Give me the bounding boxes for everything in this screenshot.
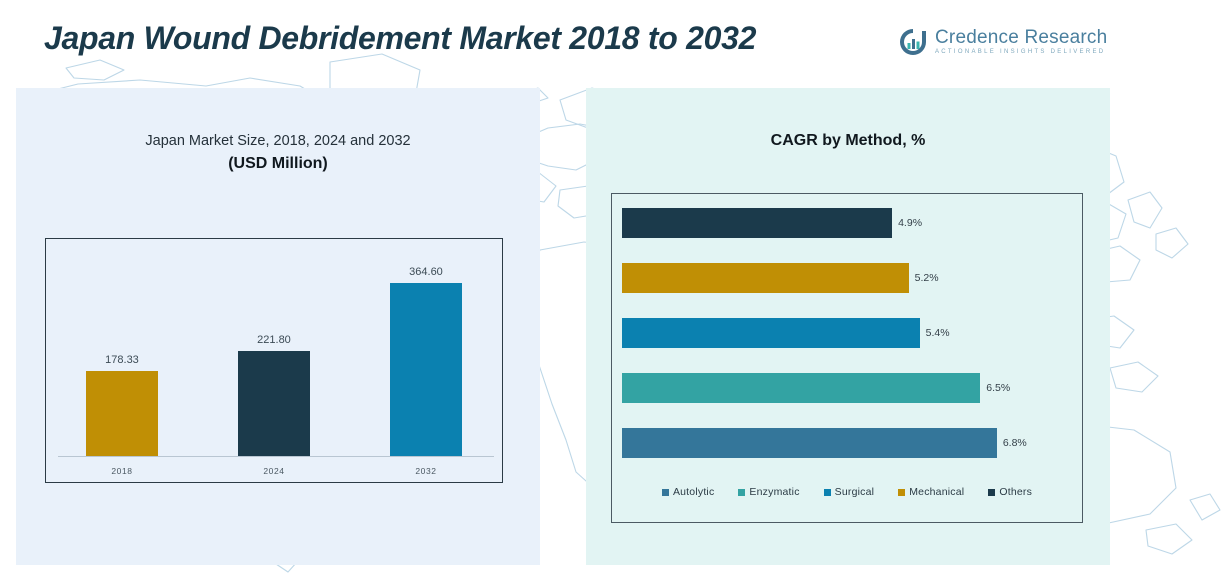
bar-value-label: 178.33 [105,354,139,366]
cagr-value-label: 5.4% [926,327,950,339]
left-panel: Japan Market Size, 2018, 2024 and 2032 (… [16,88,540,565]
right-panel: CAGR by Method, % 4.9%5.2%5.4%6.5%6.8% A… [586,88,1110,565]
legend-item-mechanical: Mechanical [898,486,964,498]
cagr-bar-others [622,208,892,238]
left-chart-title-line2: (USD Million) [16,155,540,173]
x-axis-line [58,456,494,457]
infographic-root: Japan Wound Debridement Market 2018 to 2… [0,0,1228,581]
cagr-value-label: 4.9% [898,217,922,229]
legend-label: Autolytic [673,486,714,498]
cagr-bar-row: 5.2% [622,263,1074,293]
market-size-bars: 178.33221.80364.60 [46,266,502,456]
x-tick-2032: 2032 [350,466,502,476]
legend-item-autolytic: Autolytic [662,486,714,498]
x-axis-labels: 201820242032 [46,466,502,476]
legend-label: Enzymatic [749,486,799,498]
header: Japan Wound Debridement Market 2018 to 2… [0,0,1228,88]
legend-swatch-icon [738,489,745,496]
cagr-bar-enzymatic [622,373,980,403]
brand-name: Credence Research [935,28,1107,48]
cagr-value-label: 5.2% [915,272,939,284]
cagr-bar-row: 5.4% [622,318,1074,348]
bar-value-label: 221.80 [257,334,291,346]
market-size-bar-chart: 178.33221.80364.60 201820242032 [45,238,503,483]
left-chart-title-line1: Japan Market Size, 2018, 2024 and 2032 [16,133,540,149]
market-size-bar-group: 221.80 [198,266,350,456]
brand-tagline: Actionable Insights Delivered [935,48,1107,57]
cagr-bar-row: 4.9% [622,208,1074,238]
cagr-bar-mechanical [622,263,909,293]
cagr-bars: 4.9%5.2%5.4%6.5%6.8% [622,208,1074,458]
chart-legend: AutolyticEnzymaticSurgicalMechanicalOthe… [612,486,1082,498]
legend-swatch-icon [824,489,831,496]
page-title: Japan Wound Debridement Market 2018 to 2… [44,20,756,57]
cagr-bar-surgical [622,318,920,348]
cagr-bar-row: 6.8% [622,428,1074,458]
x-tick-2024: 2024 [198,466,350,476]
legend-item-others: Others [988,486,1032,498]
market-size-bar-group: 178.33 [46,266,198,456]
legend-label: Others [999,486,1032,498]
legend-item-enzymatic: Enzymatic [738,486,799,498]
bar-2024 [238,351,310,456]
legend-swatch-icon [662,489,669,496]
right-chart-title: CAGR by Method, % [586,132,1110,150]
cagr-value-label: 6.8% [1003,437,1027,449]
legend-label: Mechanical [909,486,964,498]
cagr-bar-autolytic [622,428,997,458]
bar-2018 [86,371,158,456]
brand-logo: Credence Research Actionable Insights De… [898,27,1107,57]
cagr-bar-row: 6.5% [622,373,1074,403]
legend-swatch-icon [898,489,905,496]
legend-swatch-icon [988,489,995,496]
brand-text-wrap: Credence Research Actionable Insights De… [935,28,1107,57]
bar-chart-circle-icon [898,27,928,57]
bar-2032 [390,283,462,456]
cagr-bar-chart: 4.9%5.2%5.4%6.5%6.8% AutolyticEnzymaticS… [611,193,1083,523]
cagr-value-label: 6.5% [986,382,1010,394]
x-tick-2018: 2018 [46,466,198,476]
legend-label: Surgical [835,486,875,498]
bar-value-label: 364.60 [409,266,443,278]
legend-item-surgical: Surgical [824,486,875,498]
market-size-bar-group: 364.60 [350,266,502,456]
